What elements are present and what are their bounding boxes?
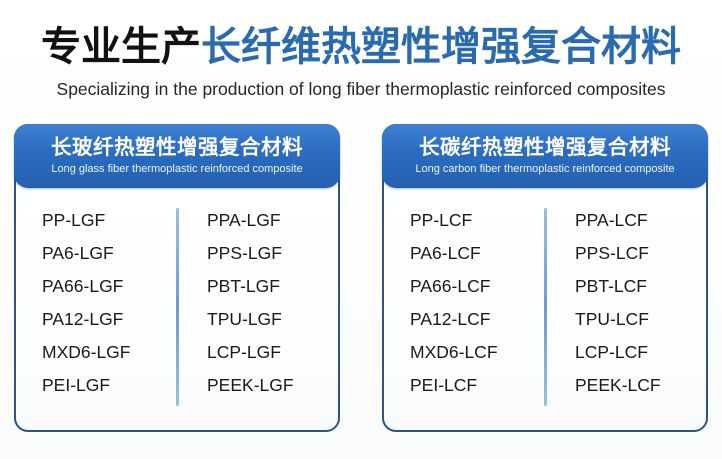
card-header-title-en: Long carbon fiber thermoplastic reinforc…: [415, 162, 674, 177]
card-body-carbon-fiber: PP-LCF PA6-LCF PA66-LCF PA12-LCF MXD6-LC…: [384, 192, 706, 432]
list-item: LCP-LGF: [207, 336, 338, 369]
card-header-glass-fiber: 长玻纤热塑性增强复合材料 Long glass fiber thermoplas…: [14, 124, 340, 188]
list-item: PA66-LCF: [410, 270, 545, 303]
list-item: PEI-LCF: [410, 369, 545, 402]
list-item: PPA-LCF: [575, 204, 706, 237]
product-overview-page: 专业生产长纤维热塑性增强复合材料 Specializing in the pro…: [0, 0, 722, 459]
list-item: PA66-LGF: [42, 270, 177, 303]
list-item: PEEK-LGF: [207, 369, 338, 402]
card-header-title-cn: 长碳纤热塑性增强复合材料: [419, 135, 671, 161]
product-column-right: PPA-LGF PPS-LGF PBT-LGF TPU-LGF LCP-LGF …: [177, 192, 338, 432]
column-divider: [176, 208, 179, 406]
card-header-carbon-fiber: 长碳纤热塑性增强复合材料 Long carbon fiber thermopla…: [382, 124, 708, 188]
product-card-carbon-fiber: 长碳纤热塑性增强复合材料 Long carbon fiber thermopla…: [382, 124, 708, 432]
product-column-left: PP-LCF PA6-LCF PA66-LCF PA12-LCF MXD6-LC…: [384, 192, 545, 432]
list-item: LCP-LCF: [575, 336, 706, 369]
list-item: PPS-LCF: [575, 237, 706, 270]
list-item: PA6-LCF: [410, 237, 545, 270]
column-divider: [544, 208, 547, 406]
page-heading: 专业生产长纤维热塑性增强复合材料 Specializing in the pro…: [0, 22, 722, 100]
page-title-primary: 专业生产: [41, 25, 201, 69]
product-card-list: 长玻纤热塑性增强复合材料 Long glass fiber thermoplas…: [14, 124, 708, 434]
card-header-title-en: Long glass fiber thermoplastic reinforce…: [51, 162, 302, 177]
list-item: PP-LGF: [42, 204, 177, 237]
list-item: MXD6-LCF: [410, 336, 545, 369]
card-body-glass-fiber: PP-LGF PA6-LGF PA66-LGF PA12-LGF MXD6-LG…: [16, 192, 338, 432]
list-item: TPU-LGF: [207, 303, 338, 336]
product-column-right: PPA-LCF PPS-LCF PBT-LCF TPU-LCF LCP-LCF …: [545, 192, 706, 432]
list-item: MXD6-LGF: [42, 336, 177, 369]
product-column-left: PP-LGF PA6-LGF PA66-LGF PA12-LGF MXD6-LG…: [16, 192, 177, 432]
page-title: 专业生产长纤维热塑性增强复合材料: [0, 22, 722, 72]
list-item: PA12-LCF: [410, 303, 545, 336]
list-item: PPS-LGF: [207, 237, 338, 270]
list-item: PBT-LCF: [575, 270, 706, 303]
page-subtitle: Specializing in the production of long f…: [0, 78, 722, 100]
list-item: PPA-LGF: [207, 204, 338, 237]
list-item: PP-LCF: [410, 204, 545, 237]
list-item: PBT-LGF: [207, 270, 338, 303]
list-item: TPU-LCF: [575, 303, 706, 336]
card-header-title-cn: 长玻纤热塑性增强复合材料: [51, 135, 303, 161]
list-item: PEEK-LCF: [575, 369, 706, 402]
page-title-highlight: 长纤维热塑性增强复合材料: [201, 25, 681, 69]
list-item: PA6-LGF: [42, 237, 177, 270]
product-card-glass-fiber: 长玻纤热塑性增强复合材料 Long glass fiber thermoplas…: [14, 124, 340, 432]
list-item: PA12-LGF: [42, 303, 177, 336]
list-item: PEI-LGF: [42, 369, 177, 402]
